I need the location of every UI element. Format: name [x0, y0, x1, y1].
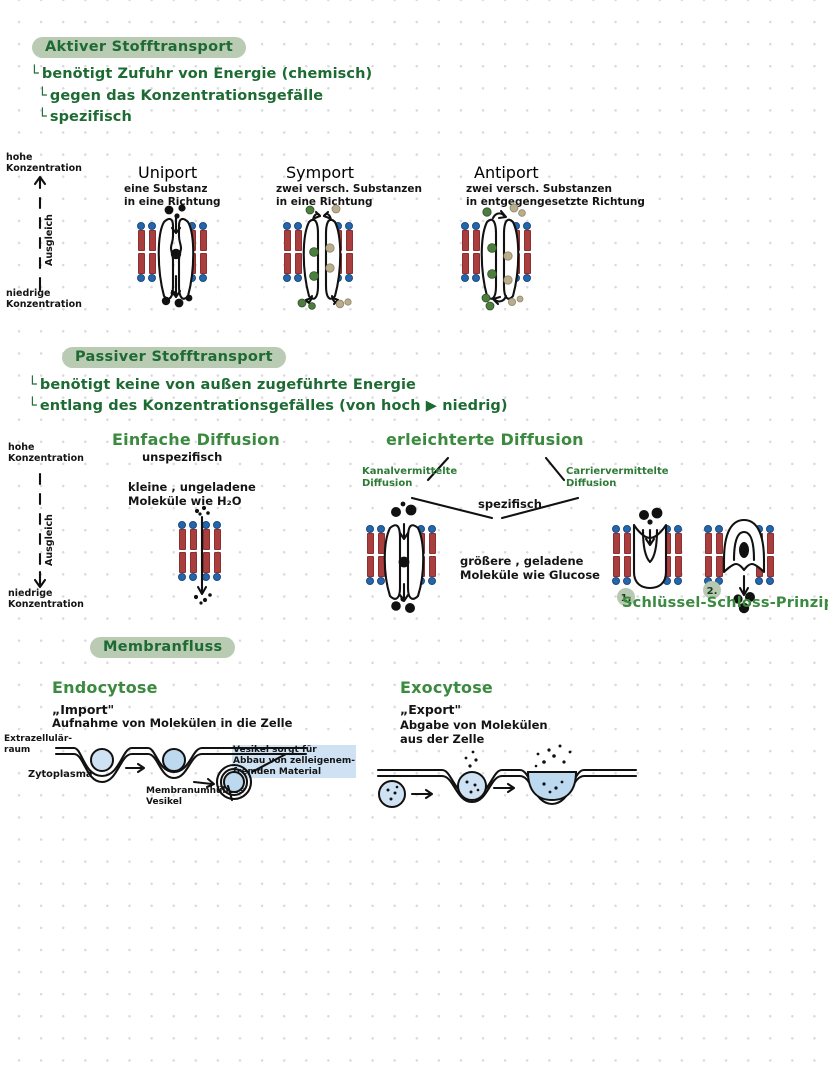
endocytosis-title: Endocytose: [52, 678, 158, 697]
active-bullet-2: └gegen das Konzentrationsgefälle: [38, 85, 323, 104]
exocytosis-description: Abgabe von Molekülen aus der Zelle: [400, 718, 548, 746]
passive-bullet-2: └entlang des Konzentrationsgefälles (von…: [28, 395, 508, 414]
exocytosis-title: Exocytose: [400, 678, 493, 697]
lock-and-key-caption: Schlüssel-Schloss-Prinzip: [622, 595, 828, 611]
symport-carrier-protein-icon: [290, 204, 354, 308]
membranflow-heading-pill: Membranfluss: [90, 636, 235, 658]
active-transport-heading: Aktiver Stofftransport: [32, 37, 246, 58]
bullet-corner-icon: └: [28, 398, 37, 414]
passive-transport-heading-pill: Passiver Stofftransport: [62, 346, 286, 368]
facilitated-specificity-note: spezifisch: [478, 497, 542, 511]
active-bullet-1-text: benötigt Zufuhr von Energie (chemisch): [42, 66, 372, 82]
bullet-corner-icon: └: [28, 377, 37, 393]
active-axis-middle-label: Ausgleich: [44, 196, 55, 266]
simple-diffusion-title: Einfache Diffusion: [112, 430, 280, 449]
active-bullet-3-text: spezifisch: [50, 109, 132, 125]
symport-title: Symport: [286, 163, 354, 182]
passive-bullet-1: └benötigt keine von außen zugeführte Ene…: [28, 374, 416, 393]
membranflow-heading: Membranfluss: [90, 637, 235, 658]
passive-bullet-1-text: benötigt keine von außen zugeführte Ener…: [40, 377, 416, 393]
passive-axis-top-label: hohe Konzentration: [8, 442, 84, 464]
passive-axis-middle-label: Ausgleich: [44, 500, 55, 566]
active-bullet-2-text: gegen das Konzentrationsgefälle: [50, 88, 323, 104]
passive-transport-heading: Passiver Stofftransport: [62, 347, 286, 368]
active-bullet-1: └benötigt Zufuhr von Energie (chemisch): [30, 63, 372, 82]
facilitated-molecule-note: größere , geladene Moleküle wie Glucose: [460, 554, 600, 582]
endocytosis-description: Aufnahme von Molekülen in die Zelle: [52, 716, 292, 730]
endocytosis-quote: „Import": [52, 702, 114, 717]
active-transport-heading-pill: Aktiver Stofftransport: [32, 36, 246, 58]
carrier-protein-step1-icon: 1.: [612, 500, 692, 608]
passive-axis-bottom-label: niedrige Konzentration: [8, 588, 84, 610]
bullet-corner-icon: └: [38, 109, 47, 125]
carrier-diffusion-branch-label: Carriervermittelte Diffusion: [566, 466, 669, 490]
passive-bullet-2-text: entlang des Konzentrationsgefälles (von …: [40, 398, 508, 414]
antiport-title: Antiport: [474, 163, 539, 182]
channel-protein-icon: [372, 500, 438, 612]
active-axis-bottom-label: niedrige Konzentration: [6, 288, 82, 310]
endocytosis-diagram: [56, 738, 326, 808]
antiport-carrier-protein-icon: [468, 204, 532, 308]
exocytosis-quote: „Export": [400, 702, 461, 717]
simple-diffusion-subtitle: unspezifisch: [142, 450, 222, 464]
exocytosis-diagram: [378, 744, 638, 810]
bullet-corner-icon: └: [38, 88, 47, 104]
uniport-title: Uniport: [138, 163, 197, 182]
uniport-carrier-protein-icon: [144, 204, 208, 308]
facilitated-diffusion-title: erleichterte Diffusion: [386, 430, 584, 449]
active-bullet-3: └spezifisch: [38, 106, 132, 125]
channel-diffusion-branch-label: Kanalvermittelte Diffusion: [362, 466, 457, 490]
simple-diffusion-note: kleine , ungeladene Moleküle wie H₂O: [128, 480, 256, 508]
simple-diffusion-arrow-icon: [180, 505, 226, 605]
bullet-corner-icon: └: [30, 66, 39, 82]
notebook-page: Aktiver Stofftransport └benötigt Zufuhr …: [0, 0, 828, 1069]
